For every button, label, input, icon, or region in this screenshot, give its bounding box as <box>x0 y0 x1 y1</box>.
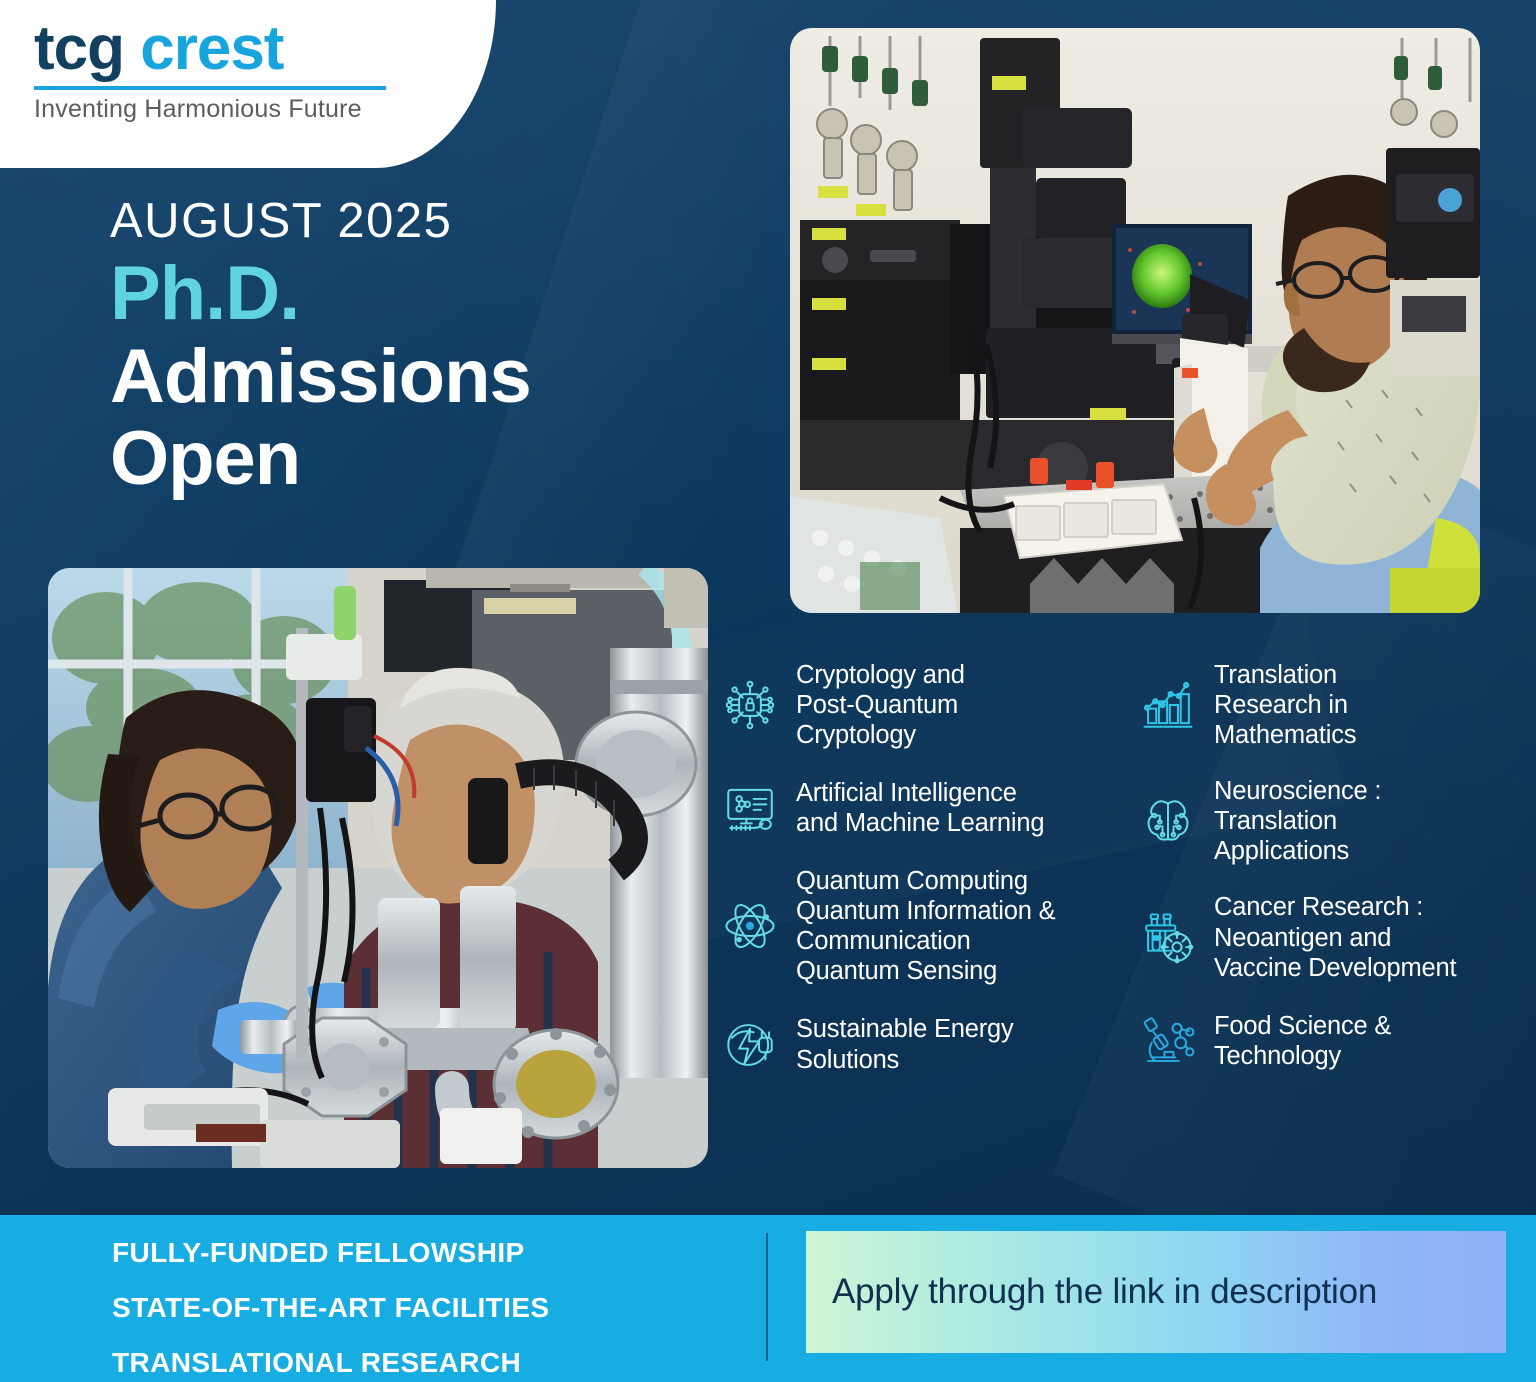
research-area-label: Artificial Intelligence and Machine Lear… <box>796 778 1044 838</box>
logo-wordmark: tcg crest <box>34 18 386 80</box>
research-area-item[interactable]: Cryptology and Post-Quantum Cryptology <box>718 660 1118 750</box>
research-area-label: Cryptology and Post-Quantum Cryptology <box>796 660 965 750</box>
ai-monitor-icon <box>718 776 782 840</box>
footer-divider <box>766 1233 768 1361</box>
logo-text-crest: crest <box>140 14 283 83</box>
apply-cta-text: Apply through the link in description <box>806 1272 1377 1312</box>
headline-phd: Ph.D. <box>110 253 531 335</box>
brand-logo: tcg crest Inventing Harmonious Future <box>34 18 386 124</box>
headline-month: AUGUST 2025 <box>110 196 531 247</box>
vacuum-chamber-lab-photo <box>48 568 708 1168</box>
footer-bar: FULLY-FUNDED FELLOWSHIP STATE-OF-THE-ART… <box>0 1215 1536 1382</box>
research-area-item[interactable]: Quantum Computing Quantum Information & … <box>718 866 1118 986</box>
bar-chart-icon <box>1136 673 1200 737</box>
sustainable-energy-icon <box>718 1013 782 1077</box>
apply-cta-banner[interactable]: Apply through the link in description <box>806 1231 1506 1353</box>
brain-circuit-icon <box>1136 789 1200 853</box>
research-area-label: Sustainable Energy Solutions <box>796 1014 1014 1074</box>
benefit-item: FULLY-FUNDED FELLOWSHIP <box>112 1237 550 1269</box>
research-area-item[interactable]: Cancer Research : Neoantigen and Vaccine… <box>1136 892 1526 982</box>
headline-block: AUGUST 2025 Ph.D. Admissions Open <box>110 196 531 500</box>
headline-admissions: Admissions <box>110 336 531 418</box>
logo-tagline: Inventing Harmonious Future <box>34 95 386 124</box>
research-area-label: Cancer Research : Neoantigen and Vaccine… <box>1214 892 1456 982</box>
poster-root: tcg crest Inventing Harmonious Future AU… <box>0 0 1536 1382</box>
research-area-item[interactable]: Translation Research in Mathematics <box>1136 660 1526 750</box>
research-area-label: Food Science & Technology <box>1214 1011 1391 1071</box>
benefits-list: FULLY-FUNDED FELLOWSHIP STATE-OF-THE-ART… <box>112 1237 550 1382</box>
research-area-label: Translation Research in Mathematics <box>1214 660 1356 750</box>
test-tube-virus-icon <box>1136 906 1200 970</box>
benefit-item: STATE-OF-THE-ART FACILITIES <box>112 1292 550 1324</box>
benefit-item: TRANSLATIONAL RESEARCH <box>112 1347 550 1379</box>
logo-divider-rule <box>34 86 386 90</box>
research-area-item[interactable]: Artificial Intelligence and Machine Lear… <box>718 776 1118 840</box>
microscope-molecule-icon <box>1136 1009 1200 1073</box>
logo-panel: tcg crest Inventing Harmonious Future <box>0 0 496 168</box>
research-areas-right-column: Translation Research in Mathematics <box>1136 660 1526 1099</box>
cryptology-lock-chip-icon <box>718 673 782 737</box>
research-area-label: Neuroscience : Translation Applications <box>1214 776 1381 866</box>
atom-icon <box>718 894 782 958</box>
research-area-item[interactable]: Food Science & Technology <box>1136 1009 1526 1073</box>
logo-text-tcg: tcg <box>34 14 124 83</box>
research-area-item[interactable]: Sustainable Energy Solutions <box>718 1013 1118 1077</box>
headline-open: Open <box>110 418 531 500</box>
research-areas-left-column: Cryptology and Post-Quantum Cryptology <box>718 660 1118 1103</box>
research-area-item[interactable]: Neuroscience : Translation Applications <box>1136 776 1526 866</box>
research-area-label: Quantum Computing Quantum Information & … <box>796 866 1055 986</box>
microscopy-lab-photo <box>790 28 1480 613</box>
